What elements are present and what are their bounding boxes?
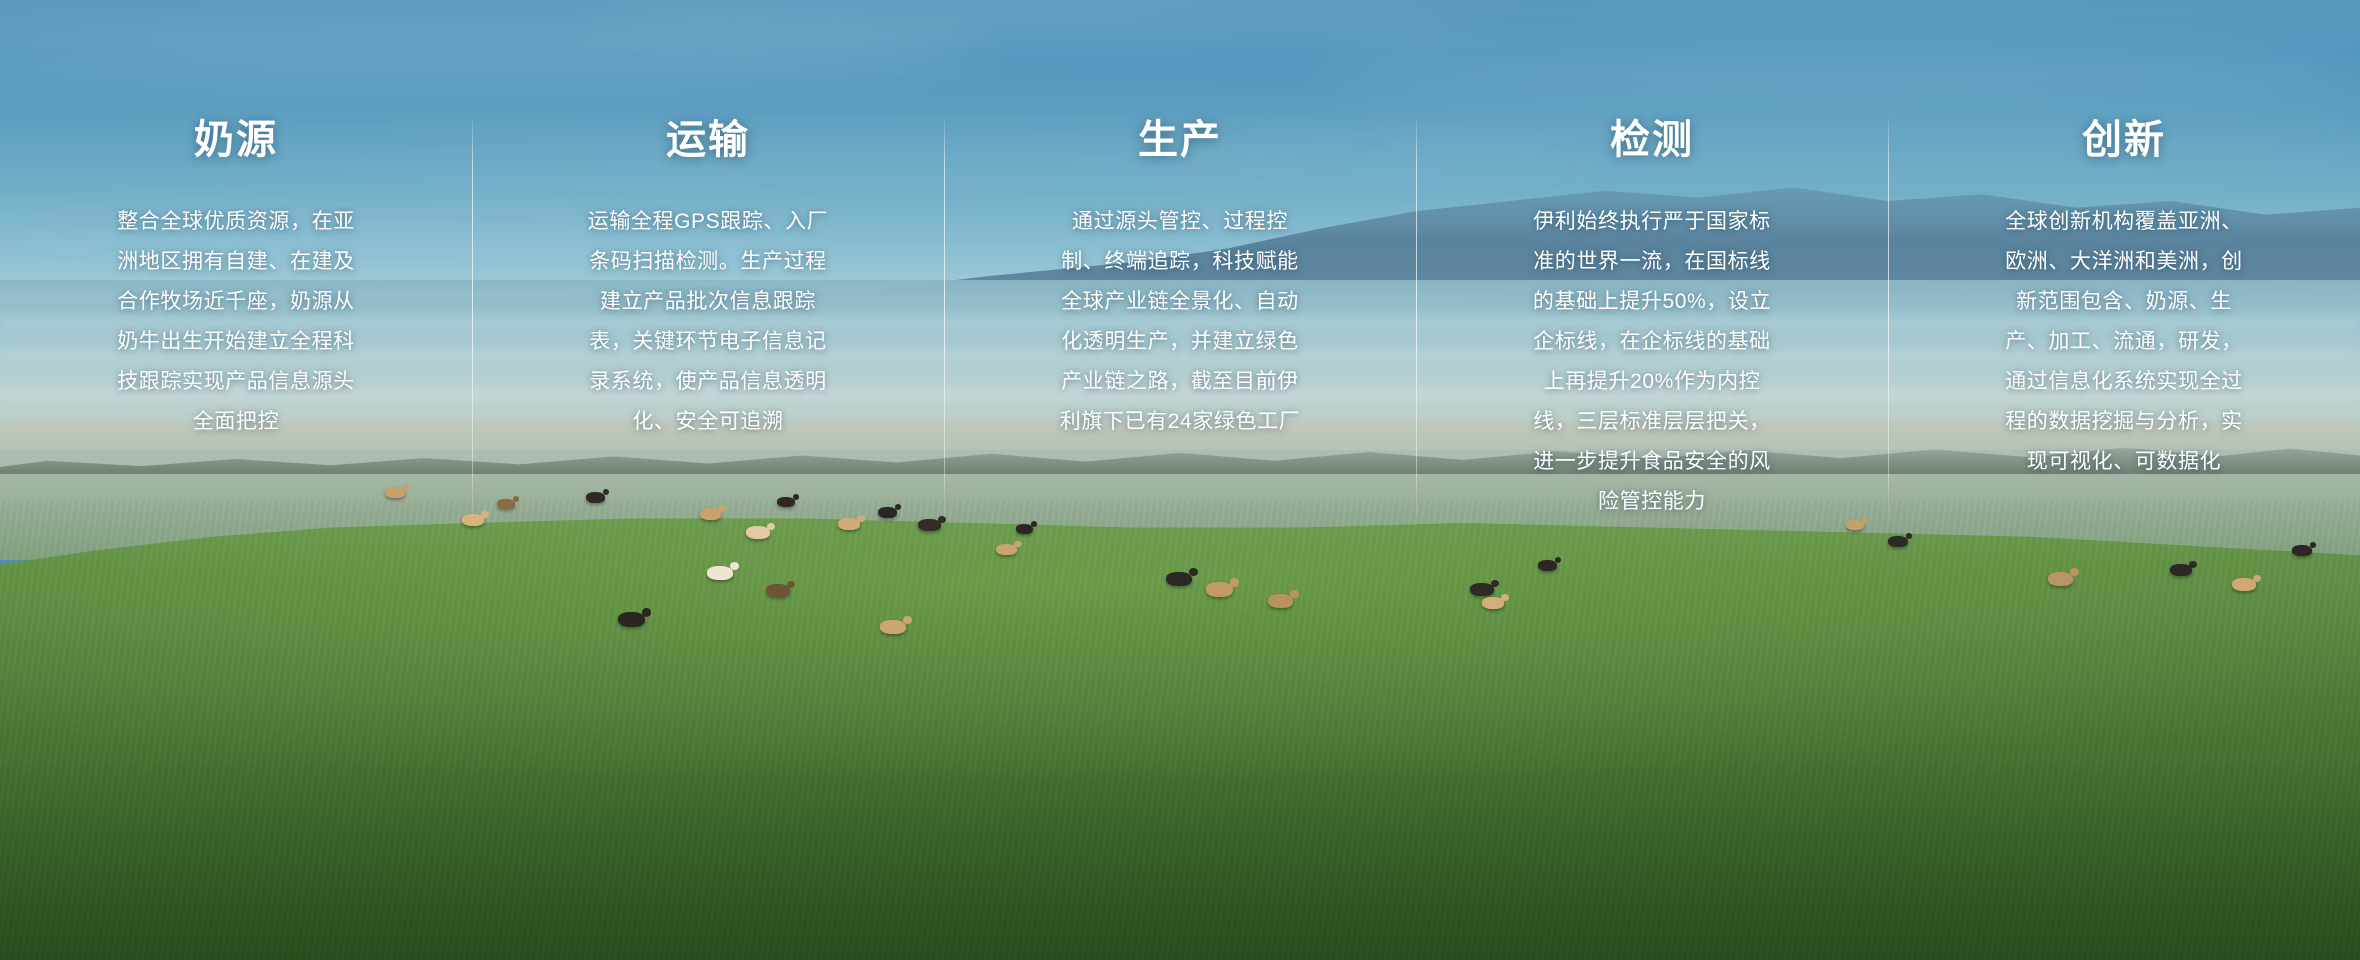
column-transport: 运输 运输全程GPS跟踪、入厂条码扫描检测。生产过程建立产品批次信息跟踪表，关键… [472,0,944,960]
column-title: 创新 [1922,118,2326,162]
column-description: 通过源头管控、过程控制、终端追踪，科技赋能全球产业链全景化、自动化透明生产，并建… [1055,202,1305,442]
column-description: 伊利始终执行严于国家标准的世界一流，在国标线的基础上提升50%，设立企标线，在企… [1527,202,1777,522]
column-production: 生产 通过源头管控、过程控制、终端追踪，科技赋能全球产业链全景化、自动化透明生产… [944,0,1416,960]
column-innovation: 创新 全球创新机构覆盖亚洲、欧洲、大洋洲和美洲，创新范围包含、奶源、生产、加工、… [1888,0,2360,960]
feature-columns: 奶源 整合全球优质资源，在亚洲地区拥有自建、在建及合作牧场近千座，奶源从奶牛出生… [0,0,2360,960]
column-description: 整合全球优质资源，在亚洲地区拥有自建、在建及合作牧场近千座，奶源从奶牛出生开始建… [111,202,361,442]
column-title: 运输 [506,118,910,162]
column-milk-source: 奶源 整合全球优质资源，在亚洲地区拥有自建、在建及合作牧场近千座，奶源从奶牛出生… [0,0,472,960]
column-inspection: 检测 伊利始终执行严于国家标准的世界一流，在国标线的基础上提升50%，设立企标线… [1416,0,1888,960]
column-title: 奶源 [34,118,438,162]
column-title: 检测 [1450,118,1854,162]
column-description: 运输全程GPS跟踪、入厂条码扫描检测。生产过程建立产品批次信息跟踪表，关键环节电… [583,202,833,442]
column-title: 生产 [978,118,1382,162]
column-description: 全球创新机构覆盖亚洲、欧洲、大洋洲和美洲，创新范围包含、奶源、生产、加工、流通，… [1999,202,2249,482]
hero-section: 奶源 整合全球优质资源，在亚洲地区拥有自建、在建及合作牧场近千座，奶源从奶牛出生… [0,0,2360,960]
